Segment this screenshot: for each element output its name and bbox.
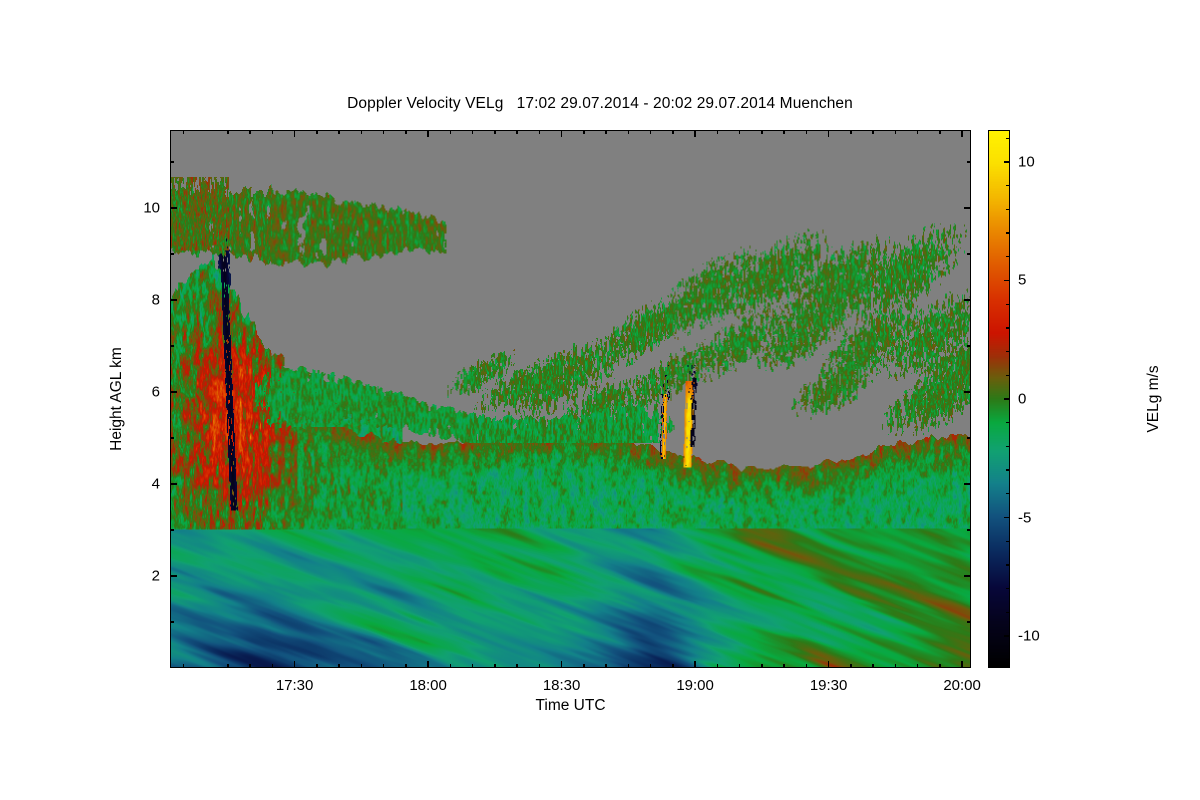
colorbar-label: VELg m/s bbox=[1145, 289, 1163, 509]
x-tick-minor bbox=[628, 664, 629, 668]
x-tick-major-top bbox=[694, 130, 695, 137]
x-tick-minor bbox=[850, 664, 851, 668]
x-tick-minor bbox=[717, 664, 718, 668]
x-tick-major bbox=[694, 661, 695, 668]
x-tick-label: 19:00 bbox=[676, 677, 714, 694]
x-tick-label: 19:30 bbox=[810, 677, 848, 694]
x-tick-minor bbox=[783, 664, 784, 668]
x-tick-minor bbox=[272, 664, 273, 668]
x-tick-label: 18:00 bbox=[409, 677, 447, 694]
colorbar-tick-minor bbox=[1006, 564, 1009, 565]
y-tick-minor-right bbox=[967, 253, 971, 254]
x-tick-minor-top bbox=[850, 130, 851, 134]
y-tick-minor bbox=[170, 253, 174, 254]
x-tick-minor-top bbox=[450, 130, 451, 134]
x-tick-minor-top bbox=[783, 130, 784, 134]
x-tick-minor bbox=[939, 664, 940, 668]
x-tick-minor bbox=[183, 664, 184, 668]
x-tick-minor bbox=[917, 664, 918, 668]
colorbar-tick-minor bbox=[1006, 493, 1009, 494]
x-tick-major bbox=[961, 661, 962, 668]
colorbar-tick-minor bbox=[1006, 256, 1009, 257]
y-tick-major-right bbox=[964, 391, 971, 392]
y-tick-minor-right bbox=[967, 437, 971, 438]
colorbar-tick-minor bbox=[1006, 232, 1009, 233]
colorbar-tick-minor bbox=[1006, 446, 1009, 447]
x-tick-major bbox=[427, 661, 428, 668]
y-tick-major bbox=[170, 483, 177, 484]
y-tick-minor-right bbox=[967, 345, 971, 346]
x-tick-minor bbox=[472, 664, 473, 668]
colorbar-tick-major bbox=[1004, 280, 1009, 281]
x-tick-major bbox=[561, 661, 562, 668]
x-tick-minor-top bbox=[516, 130, 517, 134]
y-tick-major bbox=[170, 391, 177, 392]
x-tick-major-top bbox=[961, 130, 962, 137]
colorbar-tick-label: -10 bbox=[1018, 628, 1040, 645]
y-tick-major bbox=[170, 575, 177, 576]
x-tick-minor-top bbox=[628, 130, 629, 134]
x-tick-minor-top bbox=[650, 130, 651, 134]
colorbar-tick-label: 5 bbox=[1018, 272, 1026, 289]
x-tick-minor-top bbox=[183, 130, 184, 134]
x-tick-minor-top bbox=[761, 130, 762, 134]
x-tick-minor-top bbox=[672, 130, 673, 134]
colorbar-tick-major bbox=[1004, 398, 1009, 399]
figure-canvas: Doppler Velocity VELg 17:02 29.07.2014 -… bbox=[0, 0, 1200, 800]
heatmap-field bbox=[171, 131, 970, 667]
x-tick-major bbox=[294, 661, 295, 668]
y-tick-major bbox=[170, 299, 177, 300]
colorbar-tick-minor bbox=[1006, 327, 1009, 328]
x-tick-minor bbox=[316, 664, 317, 668]
colorbar-tick-label: 10 bbox=[1018, 153, 1035, 170]
y-tick-label: 2 bbox=[104, 568, 160, 585]
x-tick-minor-top bbox=[316, 130, 317, 134]
colorbar-tick-minor bbox=[1006, 541, 1009, 542]
colorbar-tick-minor bbox=[1006, 351, 1009, 352]
x-tick-label: 18:30 bbox=[543, 677, 581, 694]
colorbar-tick-minor bbox=[1006, 659, 1009, 660]
x-tick-minor-top bbox=[917, 130, 918, 134]
colorbar-tick-minor bbox=[1006, 469, 1009, 470]
y-tick-minor-right bbox=[967, 529, 971, 530]
x-tick-minor-top bbox=[583, 130, 584, 134]
x-tick-major-top bbox=[294, 130, 295, 137]
x-tick-minor-top bbox=[806, 130, 807, 134]
colorbar-tick-minor bbox=[1006, 612, 1009, 613]
x-tick-minor-top bbox=[739, 130, 740, 134]
x-tick-minor bbox=[605, 664, 606, 668]
y-tick-minor bbox=[170, 621, 174, 622]
x-tick-minor bbox=[338, 664, 339, 668]
x-tick-minor-top bbox=[249, 130, 250, 134]
x-tick-minor bbox=[361, 664, 362, 668]
x-axis-label: Time UTC bbox=[170, 697, 971, 715]
y-tick-major-right bbox=[964, 207, 971, 208]
x-tick-minor-top bbox=[939, 130, 940, 134]
colorbar-tick-minor bbox=[1006, 209, 1009, 210]
y-tick-major-right bbox=[964, 299, 971, 300]
x-tick-minor bbox=[539, 664, 540, 668]
y-tick-minor-right bbox=[967, 161, 971, 162]
doppler-velocity-heatmap[interactable] bbox=[170, 130, 971, 668]
x-tick-minor bbox=[739, 664, 740, 668]
x-tick-minor bbox=[450, 664, 451, 668]
x-tick-minor-top bbox=[338, 130, 339, 134]
y-tick-minor bbox=[170, 437, 174, 438]
x-tick-minor bbox=[249, 664, 250, 668]
y-tick-minor bbox=[170, 529, 174, 530]
colorbar-tick-major bbox=[1004, 161, 1009, 162]
colorbar-tick-minor bbox=[1006, 304, 1009, 305]
x-tick-minor bbox=[761, 664, 762, 668]
y-tick-label: 10 bbox=[104, 200, 160, 217]
x-tick-minor bbox=[383, 664, 384, 668]
x-tick-minor-top bbox=[539, 130, 540, 134]
x-tick-major-top bbox=[828, 130, 829, 137]
x-tick-minor bbox=[583, 664, 584, 668]
y-tick-minor bbox=[170, 345, 174, 346]
x-tick-minor bbox=[650, 664, 651, 668]
y-tick-major bbox=[170, 207, 177, 208]
x-tick-minor bbox=[806, 664, 807, 668]
x-tick-major-top bbox=[427, 130, 428, 137]
colorbar-tick-label: -5 bbox=[1018, 509, 1031, 526]
y-tick-major-right bbox=[964, 483, 971, 484]
x-tick-minor bbox=[895, 664, 896, 668]
colorbar-tick-label: 0 bbox=[1018, 391, 1026, 408]
x-tick-minor-top bbox=[872, 130, 873, 134]
x-tick-minor-top bbox=[405, 130, 406, 134]
x-tick-minor bbox=[672, 664, 673, 668]
x-tick-label: 20:00 bbox=[943, 677, 981, 694]
colorbar-tick-minor bbox=[1006, 138, 1009, 139]
x-tick-minor-top bbox=[361, 130, 362, 134]
x-tick-minor bbox=[516, 664, 517, 668]
x-tick-minor-top bbox=[383, 130, 384, 134]
x-tick-minor-top bbox=[717, 130, 718, 134]
x-tick-label: 17:30 bbox=[276, 677, 314, 694]
x-tick-minor-top bbox=[494, 130, 495, 134]
colorbar-tick-major bbox=[1004, 517, 1009, 518]
y-axis-label: Height AGL km bbox=[108, 289, 126, 509]
x-tick-minor-top bbox=[272, 130, 273, 134]
colorbar-tick-minor bbox=[1006, 422, 1009, 423]
colorbar-tick-minor bbox=[1006, 375, 1009, 376]
colorbar-tick-minor bbox=[1006, 588, 1009, 589]
page-title: Doppler Velocity VELg 17:02 29.07.2014 -… bbox=[0, 95, 1200, 113]
x-tick-major-top bbox=[561, 130, 562, 137]
x-tick-minor-top bbox=[227, 130, 228, 134]
x-tick-major bbox=[828, 661, 829, 668]
y-tick-minor-right bbox=[967, 621, 971, 622]
x-tick-minor bbox=[872, 664, 873, 668]
y-tick-minor bbox=[170, 161, 174, 162]
x-tick-minor bbox=[405, 664, 406, 668]
x-tick-minor bbox=[494, 664, 495, 668]
x-tick-minor-top bbox=[895, 130, 896, 134]
colorbar-tick-minor bbox=[1006, 185, 1009, 186]
x-tick-minor-top bbox=[472, 130, 473, 134]
x-tick-minor-top bbox=[605, 130, 606, 134]
y-tick-major-right bbox=[964, 575, 971, 576]
x-tick-minor bbox=[227, 664, 228, 668]
colorbar-tick-major bbox=[1004, 635, 1009, 636]
